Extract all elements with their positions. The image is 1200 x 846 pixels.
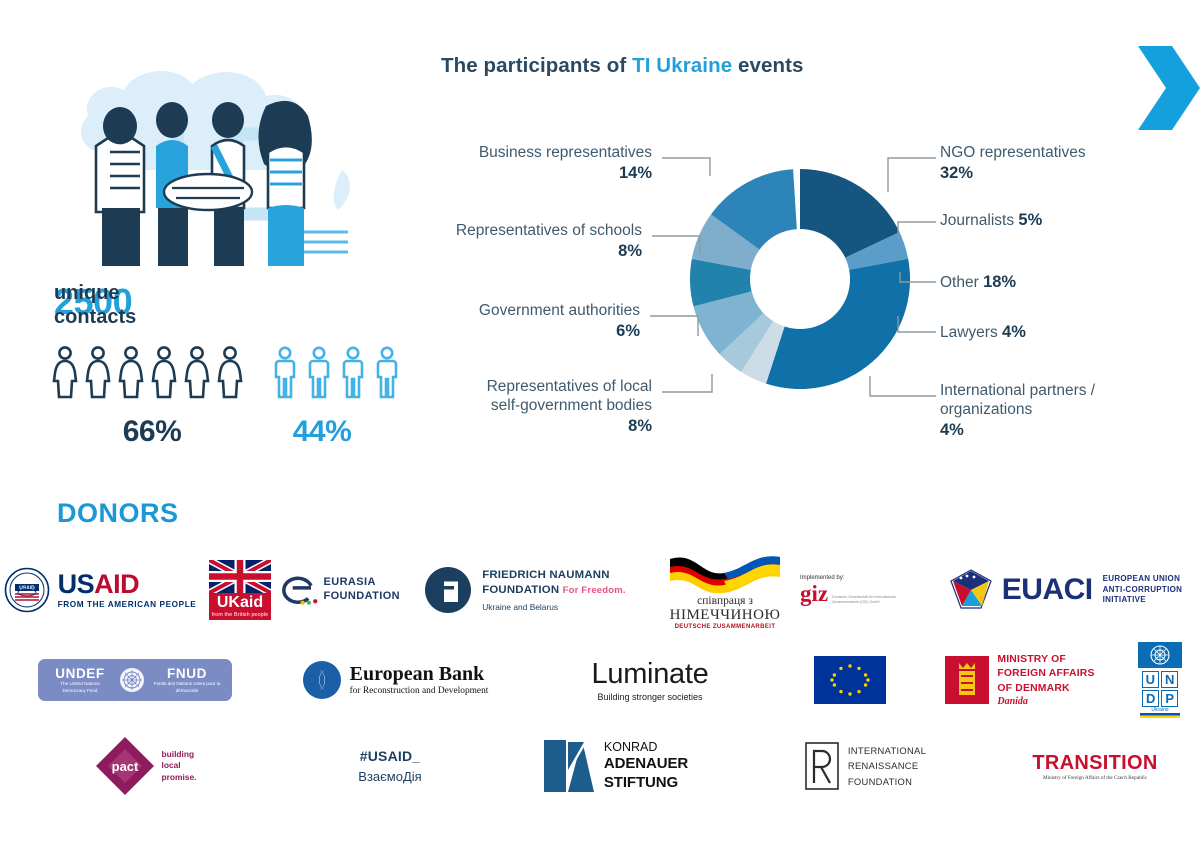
irf-line-2: RENAISSANCE — [848, 758, 926, 774]
euaci-line-2: ANTI-CORRUPTION — [1103, 585, 1183, 596]
logo-ukaid: UKaid from the British people — [200, 560, 280, 620]
logo-undef: UNDEF The United Nations Democracy Fund … — [0, 659, 270, 700]
pact-line-2: local — [162, 760, 197, 771]
union-jack-icon — [209, 560, 271, 593]
infographic-page: The participants of TI Ukraine events — [0, 0, 1200, 846]
eu-flag-icon — [814, 656, 886, 704]
fnud-word: FNUD — [153, 666, 221, 681]
label-representatives-of-schools: Representatives of schools 8% — [400, 222, 642, 261]
usaid-word-aid: AID — [94, 569, 139, 599]
german-ua-sub: DEUTSCHE ZUSAMMENARBEIT — [670, 624, 781, 630]
female-icon — [118, 345, 144, 399]
donor-logo-row-2: UNDEF The United Nations Democracy Fund … — [0, 640, 1200, 720]
logo-friedrich-naumann-foundation: FRIEDRICH NAUMANN FOUNDATION For Freedom… — [400, 566, 650, 614]
female-icon — [217, 345, 243, 399]
logo-euaci: EUACI EUROPEAN UNION ANTI-CORRUPTION INI… — [930, 568, 1200, 612]
logo-eurasia-foundation: EURASIA FOUNDATION — [280, 566, 400, 614]
euaci-shield-icon — [948, 568, 994, 612]
irf-line-3: FOUNDATION — [848, 774, 926, 790]
undp-letter-p: P — [1161, 690, 1178, 707]
undef-word: UNDEF — [49, 666, 111, 681]
german-ua-line-2: НІМЕЧЧИНОЮ — [670, 607, 781, 624]
male-icon — [375, 345, 399, 399]
fnf-circle-icon — [424, 566, 472, 614]
chevron-right-decoration — [1138, 46, 1200, 130]
people-illustration — [52, 60, 382, 270]
ukraine-flag-bar-icon — [1140, 713, 1180, 718]
luminate-wordmark: Luminate — [592, 658, 709, 691]
female-percentage: 66% — [52, 415, 252, 449]
fnf-region: Ukraine and Belarus — [482, 602, 626, 612]
donors-heading: DONORS — [57, 498, 179, 529]
male-percentage: 44% — [252, 415, 392, 449]
undp-letter-u: U — [1142, 671, 1159, 688]
gender-breakdown: 66% 44% — [52, 345, 392, 449]
logo-denmark-mfa: MINISTRY OF FOREIGN AFFAIRS OF DENMARK D… — [920, 653, 1120, 706]
eurasia-line-2: FOUNDATION — [323, 590, 400, 604]
logo-luminate: Luminate Building stronger societies — [520, 658, 780, 702]
donor-logo-row-3: pact building local promise. #USAID_ Вза… — [0, 726, 1200, 806]
kas-line-3: STIFTUNG — [604, 774, 688, 792]
logo-ebrd: European Bank for Reconstruction and Dev… — [270, 660, 520, 700]
irf-mark-icon — [804, 741, 840, 791]
unique-contacts-stat: 2500 unique contacts — [54, 281, 132, 323]
female-icon — [184, 345, 210, 399]
denmark-line-1: MINISTRY OF — [997, 653, 1094, 667]
denmark-coat-of-arms-icon — [945, 656, 989, 704]
usaid-tagline: FROM THE AMERICAN PEOPLE — [58, 600, 197, 609]
page-title-highlight: TI Ukraine — [632, 54, 732, 77]
fnf-line-1: FRIEDRICH NAUMANN — [482, 568, 626, 583]
male-icon — [307, 345, 331, 399]
participants-donut-chart: Business representatives 14% Representat… — [400, 130, 1200, 475]
label-journalists: Journalists 5% — [940, 210, 1190, 231]
pact-line-1: building — [162, 749, 197, 760]
contacts-label: unique contacts — [54, 281, 136, 330]
eurasia-e-icon — [280, 566, 319, 614]
logo-undp: U N D P Ukraine — [1120, 642, 1200, 718]
female-icon — [52, 345, 78, 399]
transition-wordmark: TRANSITION — [1032, 752, 1157, 775]
label-representatives-of-schools-value: 8% — [400, 241, 642, 261]
female-icon — [151, 345, 177, 399]
usaid-word-us: US — [58, 569, 95, 599]
usaid-seal-icon: USAID — [4, 567, 50, 613]
euaci-line-3: INITIATIVE — [1103, 595, 1183, 606]
kas-line-1: KONRAD — [604, 740, 688, 755]
eurasia-line-1: EURASIA — [323, 576, 400, 590]
label-ngo-representatives: NGO representatives 32% — [940, 144, 1190, 184]
female-icon-group — [52, 345, 243, 399]
label-local-self-government-bodies: Representatives of local self-government… — [400, 378, 652, 436]
logo-usaid: USAID USAID FROM THE AMERICAN PEOPLE — [0, 567, 200, 613]
undef-sub-en: The United Nations Democracy Fund — [49, 681, 111, 693]
denmark-line-2: FOREIGN AFFAIRS — [997, 667, 1094, 681]
un-emblem-icon — [119, 667, 145, 693]
label-ngo-representatives-value: 32% — [940, 164, 973, 182]
ukaid-word-uk: UK — [217, 594, 240, 611]
label-lawyers: Lawyers 4% — [940, 322, 1190, 343]
logo-eu-flag — [780, 656, 920, 704]
usaid-vzaemodia-ukrainian: ВзаємоДія — [358, 769, 421, 784]
label-business-representatives-value: 14% — [400, 163, 652, 183]
ebrd-line-1: European Bank — [350, 664, 489, 684]
german-ukrainian-ribbon-icon — [666, 551, 784, 593]
ebrd-line-2: for Reconstruction and Development — [350, 686, 489, 696]
logo-pact: pact building local promise. — [0, 735, 290, 797]
male-icon — [273, 345, 297, 399]
transition-sub: Ministry of Foreign Affairs of the Czech… — [1043, 775, 1147, 781]
svg-text:pact: pact — [111, 759, 138, 774]
ukaid-tagline: from the British people — [209, 612, 271, 618]
irf-line-1: INTERNATIONAL — [848, 743, 926, 759]
ukaid-word-aid: aid — [240, 594, 263, 611]
label-business-representatives: Business representatives 14% — [400, 144, 652, 183]
label-other: Other 18% — [940, 272, 1190, 293]
logo-usaid-vzaemodia: #USAID_ ВзаємоДія — [290, 748, 490, 784]
undp-letter-n: N — [1161, 671, 1178, 688]
ebrd-globe-icon — [302, 660, 342, 700]
luminate-tagline: Building stronger societies — [597, 692, 702, 702]
giz-wordmark: giz — [800, 584, 828, 605]
giz-fullname: Deutsche Gesellschaft für Internationale… — [832, 595, 900, 605]
logo-giz: Implemented by: giz Deutsche Gesellschaf… — [800, 575, 930, 605]
female-icon — [85, 345, 111, 399]
logo-german-ukrainian-cooperation: співпраця з НІМЕЧЧИНОЮ DEUTSCHE ZUSAMMEN… — [650, 551, 800, 630]
denmark-line-3: OF DENMARK — [997, 682, 1094, 696]
donor-logo-row-1: USAID USAID FROM THE AMERICAN PEOPLE — [0, 550, 1200, 630]
logo-international-renaissance-foundation: INTERNATIONAL RENAISSANCE FOUNDATION — [740, 741, 990, 791]
label-government-authorities-value: 6% — [400, 321, 640, 341]
kas-line-2: ADENAUER — [604, 755, 688, 773]
denmark-danida: Danida — [997, 696, 1094, 707]
undp-letter-d: D — [1142, 690, 1159, 707]
donor-logos: USAID USAID FROM THE AMERICAN PEOPLE — [0, 550, 1200, 806]
page-title-pre: The participants of — [441, 54, 632, 77]
label-lawyers-value: 4% — [1002, 323, 1026, 341]
pact-diamond-icon: pact — [94, 735, 156, 797]
label-international-partners: International partners / organizations 4… — [940, 382, 1192, 441]
label-other-value: 18% — [983, 273, 1016, 291]
male-icon-group — [273, 345, 399, 399]
pact-line-3: promise. — [162, 772, 197, 783]
label-journalists-value: 5% — [1018, 211, 1042, 229]
fnf-line-2: FOUNDATION — [482, 584, 559, 596]
male-icon — [341, 345, 365, 399]
svg-text:USAID: USAID — [19, 586, 35, 592]
undp-emblem-icon — [1138, 642, 1182, 668]
euaci-line-1: EUROPEAN UNION — [1103, 574, 1183, 585]
fnf-tagline: For Freedom. — [563, 585, 626, 596]
page-title-post: events — [732, 54, 803, 77]
label-local-self-government-bodies-value: 8% — [400, 416, 652, 436]
fnud-sub-fr: Fonds des Nations Unies pour la démocrat… — [153, 681, 221, 693]
german-ua-line-1: співпраця з — [670, 595, 781, 607]
euaci-wordmark: EUACI — [1002, 573, 1093, 607]
page-title: The participants of TI Ukraine events — [441, 54, 804, 78]
label-international-partners-value: 4% — [940, 421, 964, 439]
usaid-vzaemodia-hashtag: #USAID_ — [360, 748, 421, 764]
kas-mark-icon — [542, 738, 596, 794]
label-government-authorities: Government authorities 6% — [400, 302, 640, 341]
logo-konrad-adenauer-stiftung: KONRAD ADENAUER STIFTUNG — [490, 738, 740, 794]
logo-transition: TRANSITION Ministry of Foreign Affairs o… — [990, 752, 1200, 781]
